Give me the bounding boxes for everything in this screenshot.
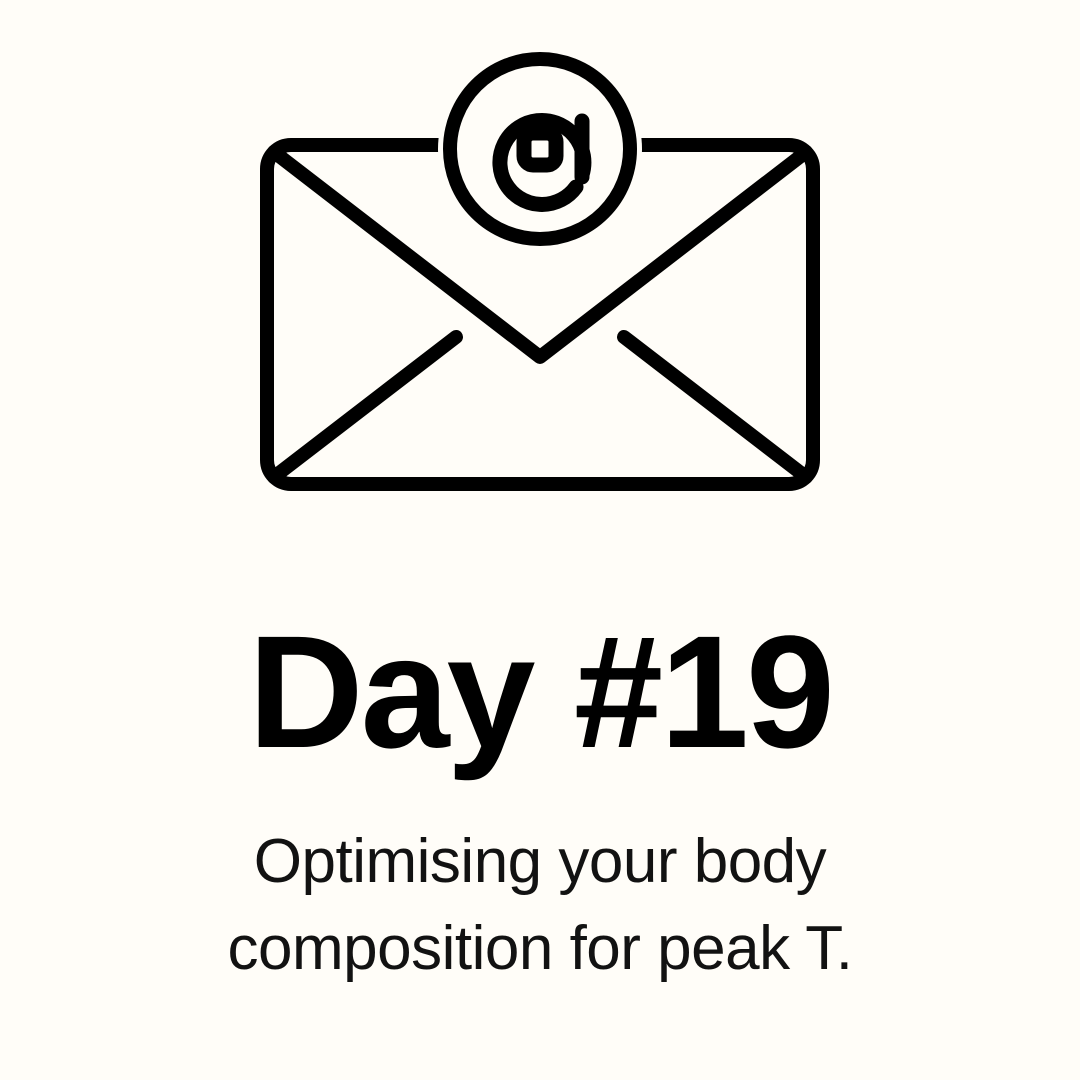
text-container: Day #19 Optimising your body composition… [0,570,1080,1080]
envelope-crease-right-icon [624,337,806,477]
subtitle: Optimising your body composition for pea… [228,818,853,992]
day-card: Day #19 Optimising your body composition… [0,0,1080,1080]
email-at-envelope-icon [260,45,820,525]
page-title: Day #19 [248,612,832,772]
at-badge-backdrop [438,47,642,251]
subtitle-line-2: composition for peak T. [228,905,853,992]
icon-container [0,0,1080,570]
subtitle-line-1: Optimising your body [228,818,853,905]
envelope-crease-left-icon [274,337,456,477]
